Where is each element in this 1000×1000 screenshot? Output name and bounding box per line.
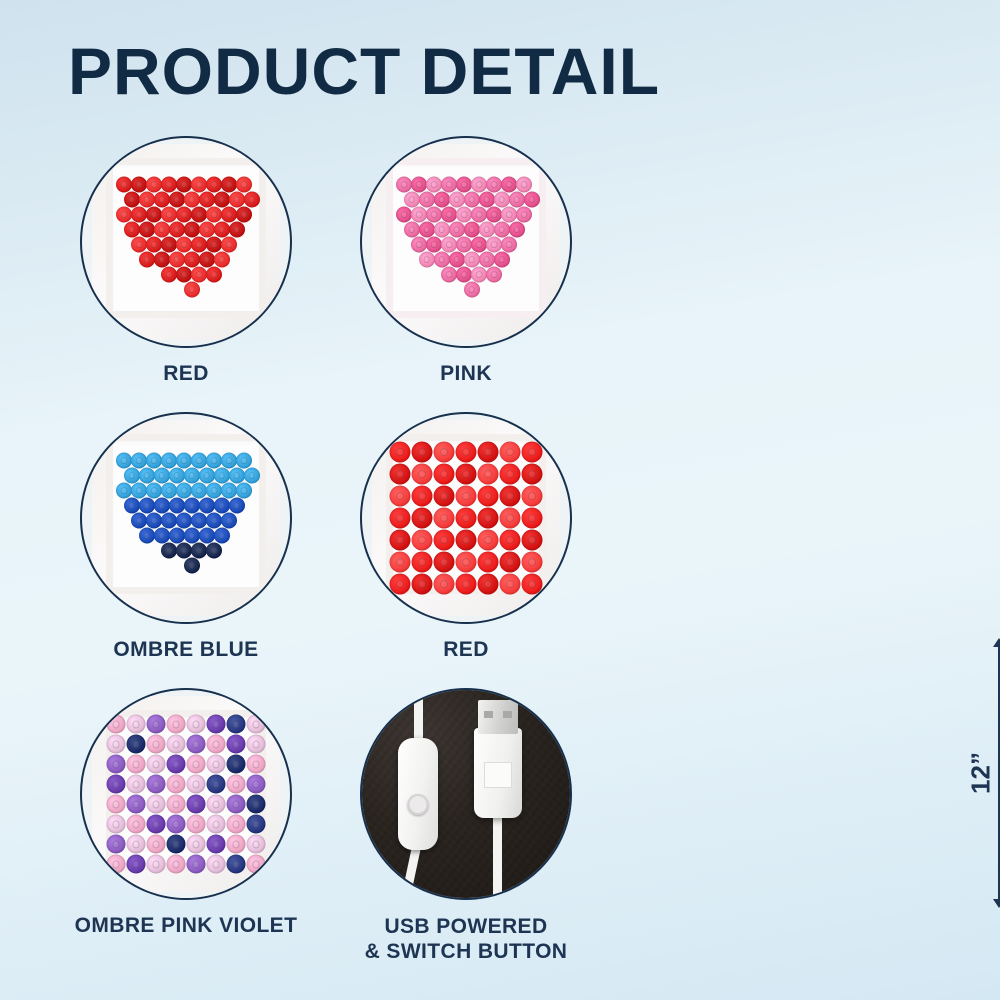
gallery-item-red-heart[interactable]: RED [46,136,326,386]
usb-label-line1: USB POWERED [384,915,547,938]
gallery-item-ombre-pink-violet[interactable]: OMBRE PINK VIOLET [46,688,326,964]
usb-connector [474,728,522,818]
rose-grid-red [390,442,543,595]
variant-label-ombre-pink-violet: OMBRE PINK VIOLET [75,914,298,938]
product-detail-infographic: PRODUCT DETAIL RED PINK [0,0,1000,1000]
usb-cable-right [493,810,502,900]
gallery-row-2: OMBRE BLUE RED [46,412,606,662]
variant-label-usb: USB POWERED & SWITCH BUTTON [365,914,568,964]
variant-label-ombre-blue: OMBRE BLUE [113,638,258,662]
variant-label-pink: PINK [440,362,492,386]
variant-label-red-square: RED [443,638,489,662]
product-photo-pink-heart[interactable] [360,136,572,348]
page-title: PRODUCT DETAIL [68,38,660,104]
gallery-item-ombre-blue-heart[interactable]: OMBRE BLUE [46,412,326,662]
product-photo-ombre-pink-violet[interactable] [80,688,292,900]
gallery-item-usb-switch[interactable]: USB POWERED & SWITCH BUTTON [326,688,606,964]
product-photo-red-square[interactable] [360,412,572,624]
product-photo-red-heart[interactable] [80,136,292,348]
size-option-12in[interactable]: Besties ForeverGOOD FRIENDS ARE LIKE STA… [970,640,1000,960]
variant-gallery: RED PINK OMBRE BLUE [46,136,606,965]
usb-label-line2: & SWITCH BUTTON [365,940,568,963]
rose-grid-pink-violet [107,715,266,874]
rose-heart-ombre-blue [116,453,256,579]
size-options: Besties ForeverGOOD FRIENDS ARE LIKE STA… [660,0,1000,1000]
rose-heart-red [116,176,256,302]
product-photo-ombre-blue-heart[interactable] [80,412,292,624]
usb-metal-tip-icon [478,700,518,734]
rose-heart-pink [396,176,536,302]
usb-switch-button[interactable] [398,738,438,850]
usb-background [362,690,570,898]
gallery-item-pink-heart[interactable]: PINK [326,136,606,386]
switch-round-button-icon[interactable] [408,794,429,815]
variant-label-red: RED [163,362,209,386]
gallery-row-1: RED PINK [46,136,606,386]
gallery-row-3: OMBRE PINK VIOLET [46,688,606,964]
product-photo-usb-cable[interactable] [360,688,572,900]
gallery-item-red-square[interactable]: RED [326,412,606,662]
dimension-height-label-12in: 12” [965,746,996,800]
